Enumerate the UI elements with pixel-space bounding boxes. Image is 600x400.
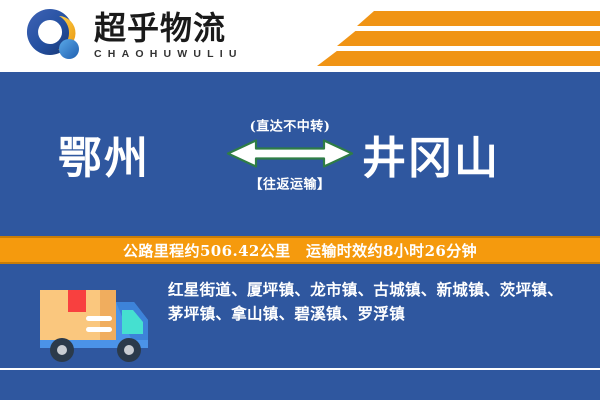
route-middle-block: (直达不中转) 【往返运输】 bbox=[215, 116, 365, 193]
route-section: 鄂州 (直达不中转) 【往返运输】 井冈山 bbox=[0, 72, 600, 236]
service-area-list: 红星街道、厦坪镇、龙市镇、古城镇、新城镇、茨坪镇、茅坪镇、拿山镇、碧溪镇、罗浮镇 bbox=[168, 278, 578, 326]
circular-q-logistics-logo-icon bbox=[24, 6, 84, 66]
bottom-divider bbox=[0, 368, 600, 370]
round-trip-tag: 【往返运输】 bbox=[215, 174, 365, 193]
brand-name-en: CHAOHUWULIU bbox=[94, 48, 243, 60]
logo-svg bbox=[24, 6, 84, 66]
double-headed-arrow-icon bbox=[224, 137, 356, 171]
destination-city: 井冈山 bbox=[362, 122, 500, 186]
stripe-1 bbox=[357, 11, 600, 26]
distance-duration-bar: 公路里程约506.42公里 运输时效约8小时26分钟 bbox=[0, 236, 600, 264]
delivery-truck-icon bbox=[30, 276, 154, 373]
truck-svg bbox=[30, 276, 154, 368]
brand-name-cn: 超乎物流 bbox=[94, 12, 243, 45]
service-area-section: 红星街道、厦坪镇、龙市镇、古城镇、新城镇、茨坪镇、茅坪镇、拿山镇、碧溪镇、罗浮镇 bbox=[0, 264, 600, 400]
logistics-route-banner: 超乎物流 CHAOHUWULIU 鄂州 (直达不中转) 【往返运输】 井冈山 公… bbox=[0, 0, 600, 400]
stripe-3 bbox=[317, 51, 600, 66]
distance-duration-text: 公路里程约506.42公里 运输时效约8小时26分钟 bbox=[123, 240, 477, 261]
brand-logo: 超乎物流 CHAOHUWULIU bbox=[24, 6, 243, 66]
origin-city: 鄂州 bbox=[58, 122, 150, 186]
direct-service-tag: (直达不中转) bbox=[215, 116, 365, 135]
brand-text-block: 超乎物流 CHAOHUWULIU bbox=[94, 12, 243, 60]
header-bar: 超乎物流 CHAOHUWULIU bbox=[0, 0, 600, 72]
stripe-2 bbox=[337, 31, 600, 46]
speed-stripes-decoration bbox=[300, 0, 600, 72]
